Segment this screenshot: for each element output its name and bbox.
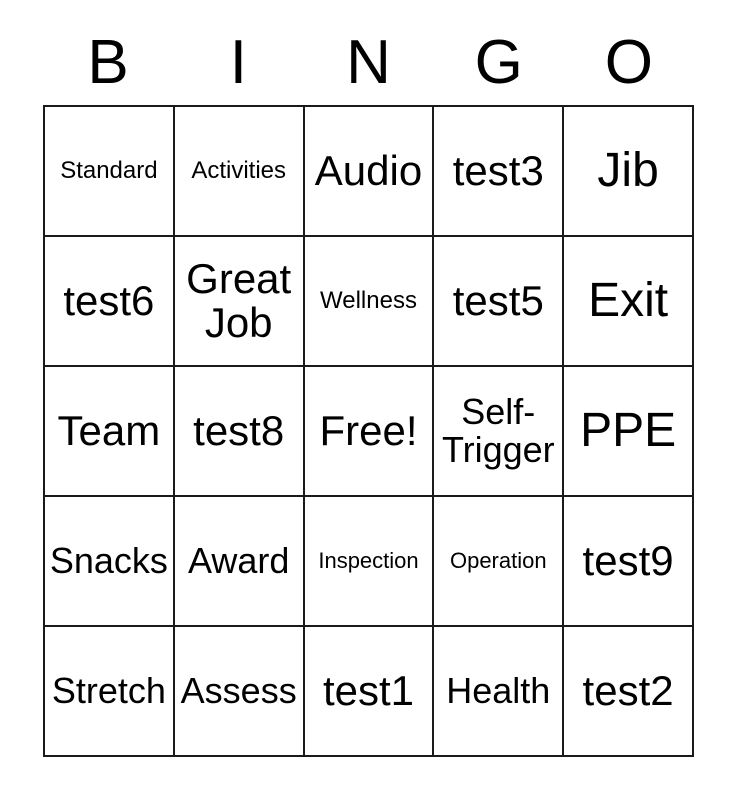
bingo-cell-label: Health [438,672,558,710]
bingo-card: B I N G O Standard Activities Audio test… [0,0,736,800]
header-letter-n: N [303,26,433,100]
bingo-cell-label: Self-Trigger [438,393,558,469]
bingo-cell-g4[interactable]: Operation [434,497,564,627]
bingo-cell-label: Stretch [49,672,169,710]
bingo-cell-o3[interactable]: PPE [564,367,694,497]
bingo-cell-label: Free! [309,409,429,453]
bingo-cell-label: Audio [309,149,429,193]
bingo-cell-o4[interactable]: test9 [564,497,694,627]
bingo-cell-n2[interactable]: Wellness [305,237,435,367]
bingo-cell-label: Award [179,542,299,580]
bingo-cell-label: Team [49,409,169,453]
bingo-row: Team test8 Free! Self-Trigger PPE [45,367,694,497]
bingo-cell-label: PPE [568,406,688,456]
bingo-cell-g5[interactable]: Health [434,627,564,757]
bingo-cell-label: Wellness [309,288,429,313]
bingo-cell-label: test8 [179,409,299,453]
bingo-cell-label: Inspection [309,549,429,572]
bingo-cell-b5[interactable]: Stretch [45,627,175,757]
bingo-row: Standard Activities Audio test3 Jib [45,107,694,237]
bingo-cell-i4[interactable]: Award [175,497,305,627]
bingo-cell-label: Great Job [179,257,299,345]
bingo-cell-label: Standard [49,158,169,183]
bingo-cell-b4[interactable]: Snacks [45,497,175,627]
bingo-cell-n5[interactable]: test1 [305,627,435,757]
bingo-cell-n4[interactable]: Inspection [305,497,435,627]
bingo-cell-label: test3 [438,149,558,193]
bingo-cell-i2[interactable]: Great Job [175,237,305,367]
bingo-cell-n1[interactable]: Audio [305,107,435,237]
bingo-cell-o1[interactable]: Jib [564,107,694,237]
header-letter-o: O [564,26,694,100]
bingo-cell-label: test2 [568,669,688,713]
bingo-cell-label: Activities [179,158,299,183]
header-letter-g: G [434,26,564,100]
bingo-row: Snacks Award Inspection Operation test9 [45,497,694,627]
bingo-cell-g1[interactable]: test3 [434,107,564,237]
bingo-header: B I N G O [43,26,694,100]
bingo-row: Stretch Assess test1 Health test2 [45,627,694,757]
bingo-cell-b2[interactable]: test6 [45,237,175,367]
bingo-cell-label: test6 [49,279,169,323]
bingo-cell-o5[interactable]: test2 [564,627,694,757]
bingo-row: test6 Great Job Wellness test5 Exit [45,237,694,367]
bingo-cell-o2[interactable]: Exit [564,237,694,367]
bingo-grid: Standard Activities Audio test3 Jib test… [43,105,694,757]
bingo-cell-label: test9 [568,539,688,583]
bingo-cell-label: Assess [179,672,299,710]
header-letter-i: I [173,26,303,100]
bingo-cell-label: test1 [309,669,429,713]
bingo-cell-free-space[interactable]: Free! [305,367,435,497]
bingo-cell-label: Jib [568,146,688,196]
bingo-cell-g2[interactable]: test5 [434,237,564,367]
bingo-cell-label: test5 [438,279,558,323]
bingo-cell-b3[interactable]: Team [45,367,175,497]
bingo-cell-label: Snacks [49,542,169,580]
bingo-cell-i5[interactable]: Assess [175,627,305,757]
bingo-cell-label: Operation [438,549,558,572]
bingo-cell-i3[interactable]: test8 [175,367,305,497]
bingo-cell-i1[interactable]: Activities [175,107,305,237]
bingo-cell-g3[interactable]: Self-Trigger [434,367,564,497]
bingo-cell-b1[interactable]: Standard [45,107,175,237]
bingo-cell-label: Exit [568,276,688,326]
header-letter-b: B [43,26,173,100]
